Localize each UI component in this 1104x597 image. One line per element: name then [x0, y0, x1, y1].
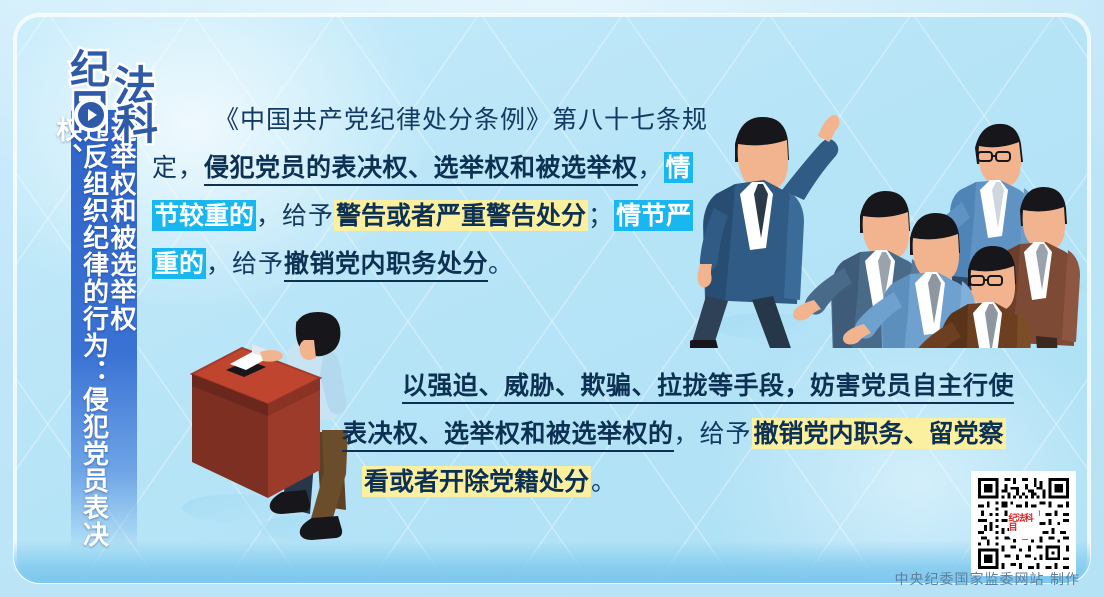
p1-l3-seg1: 节较重的 [152, 200, 256, 231]
logo-char-ke: 科 [116, 104, 158, 146]
vertical-title-banner: 选举权和被选举权 违反组织纪律的行为：侵犯党员表决权、 [71, 110, 137, 550]
p1-l1-seg1: 《中国共产党纪律处分条例》第八十七条规 [214, 105, 708, 134]
p1-l4-seg4: 。 [488, 249, 514, 278]
paragraph-one-line-3: 节较重的，给予警告或者严重警告处分；情节严 [152, 192, 712, 240]
paragraph-one-line-4: 重的，给予撤销党内职务处分。 [152, 240, 712, 288]
p2-l2-seg1: 表决权、选举权和被选举权的 [342, 419, 674, 452]
paragraph-one: 《中国共产党纪律处分条例》第八十七条规 定，侵犯党员的表决权、选举权和被选举权，… [152, 96, 712, 288]
p1-l2-seg3: ， [638, 153, 664, 182]
qr-center-logo: 纪法科目 [1009, 509, 1039, 539]
paragraph-two-line-2: 表决权、选举权和被选举权的，给予撤销党内职务、留党察 [332, 410, 1022, 458]
p1-l3-seg4: ； [588, 201, 614, 230]
paragraph-two-line-3: 看或者开除党籍处分。 [332, 458, 1022, 506]
p2-l1-seg1: 以强迫、威胁、欺骗、拉拢等手段，妨害党员自主行使 [402, 371, 1014, 404]
inner-frame: 《中国共产党纪律处分条例》第八十七条规 定，侵犯党员的表决权、选举权和被选举权，… [14, 14, 1090, 583]
qr-code[interactable]: 纪法科目 [971, 471, 1076, 576]
p1-l3-seg2: ，给予 [256, 201, 334, 230]
p2-l3-seg1: 看或者开除党籍处分 [362, 466, 591, 497]
p2-l3-seg2: 。 [591, 467, 617, 496]
p1-l4-seg1: 重的 [152, 248, 206, 279]
paragraph-two-line-1: 以强迫、威胁、欺骗、拉拢等手段，妨害党员自主行使 [332, 362, 1022, 410]
play-triangle-icon [78, 102, 104, 128]
group-scene-illustration [690, 48, 1090, 348]
poster-canvas: 《中国共产党纪律处分条例》第八十七条规 定，侵犯党员的表决权、选举权和被选举权，… [0, 0, 1104, 597]
logo-char-ji: 纪 [70, 50, 110, 90]
paragraph-one-line-2: 定，侵犯党员的表决权、选举权和被选举权，情 [152, 144, 712, 192]
paragraph-two: 以强迫、威胁、欺骗、拉拢等手段，妨害党员自主行使 表决权、选举权和被选举权的，给… [332, 362, 1022, 506]
p1-l4-seg2: ，给予 [206, 249, 284, 278]
p1-l4-seg3: 撤销党内职务处分 [284, 249, 488, 282]
p1-l3-seg3: 警告或者严重警告处分 [334, 200, 588, 231]
p1-l3-seg5: 情节严 [614, 200, 693, 231]
credit-text: 中央纪委国家监委网站 制作 [895, 569, 1080, 589]
banner-column-right: 选举权和被选举权 [107, 116, 134, 550]
p2-l2-seg2: ，给予 [674, 419, 752, 448]
paragraph-one-line-1: 《中国共产党纪律处分条例》第八十七条规 [152, 96, 712, 144]
brand-logo: 纪 法 目 科 [66, 50, 186, 142]
p1-l2-seg4: 情 [664, 152, 693, 183]
banner-column-left: 违反组织纪律的行为：侵犯党员表决权、 [53, 116, 106, 550]
p1-l2-seg2: 侵犯党员的表决权、选举权和被选举权 [204, 153, 638, 186]
p1-l2-seg1: 定， [152, 153, 204, 182]
p2-l2-seg3: 撤销党内职务、留党察 [752, 418, 1006, 449]
